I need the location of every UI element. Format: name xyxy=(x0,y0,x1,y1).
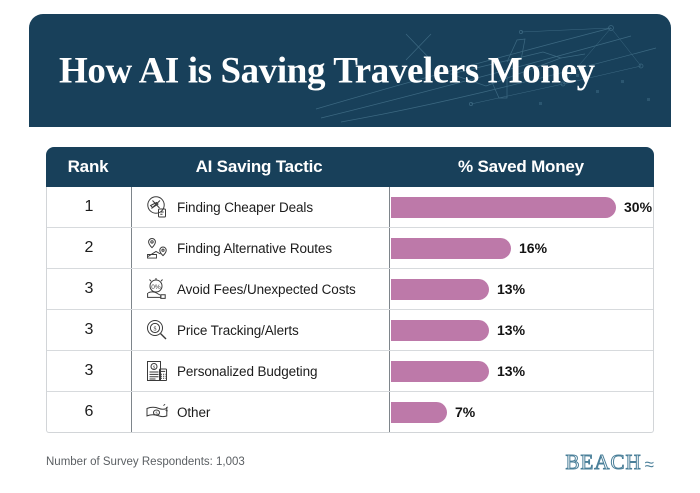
bar xyxy=(391,238,511,259)
bar-cell: 13% xyxy=(390,269,653,309)
svg-text:$: $ xyxy=(155,410,157,415)
tactic-cell: $ Price Tracking/Alerts xyxy=(132,310,390,350)
budget-document-icon: $ xyxy=(144,358,170,384)
bar-cell: 30% xyxy=(390,187,653,227)
table-row: 2 Finding Alternative Routes xyxy=(47,228,653,269)
rank-value: 1 xyxy=(47,187,132,227)
tactic-cell: Finding Cheaper Deals xyxy=(132,187,390,227)
plane-tag-icon xyxy=(144,194,170,220)
header-banner: How AI is Saving Travelers Money xyxy=(29,14,671,127)
tactic-cell: $ Personalized Budgeting xyxy=(132,351,390,391)
bar-value-label: 16% xyxy=(519,240,547,256)
table-row: 3 0% Avoid Fees/Unexpected Costs xyxy=(47,269,653,310)
tactic-label: Finding Alternative Routes xyxy=(177,241,332,256)
survey-respondents-note: Number of Survey Respondents: 1,003 xyxy=(46,456,245,468)
bar xyxy=(391,197,616,218)
rank-value: 3 xyxy=(47,310,132,350)
infographic-card: How AI is Saving Travelers Money Rank AI… xyxy=(0,0,700,493)
bar-cell: 13% xyxy=(390,351,653,391)
rank-value: 2 xyxy=(47,228,132,268)
tactic-label: Finding Cheaper Deals xyxy=(177,200,313,215)
table-row: 6 $ Other 7% xyxy=(47,392,653,432)
tactic-label: Personalized Budgeting xyxy=(177,364,317,379)
svg-text:0%: 0% xyxy=(151,284,161,291)
footer: Number of Survey Respondents: 1,003 BEAC… xyxy=(46,446,654,478)
wave-icon: ≈ xyxy=(645,456,654,473)
tactic-cell: Finding Alternative Routes xyxy=(132,228,390,268)
bar-value-label: 30% xyxy=(624,199,652,215)
magnifier-dollar-icon: $ xyxy=(144,317,170,343)
rank-value: 3 xyxy=(47,351,132,391)
brand-name: BEACH xyxy=(565,450,641,475)
svg-text:$: $ xyxy=(154,325,157,332)
tactic-label: Price Tracking/Alerts xyxy=(177,323,299,338)
page-title: How AI is Saving Travelers Money xyxy=(59,49,595,92)
column-header-tactic: AI Saving Tactic xyxy=(130,147,388,187)
bar xyxy=(391,320,489,341)
tactic-cell: 0% Avoid Fees/Unexpected Costs xyxy=(132,269,390,309)
rank-value: 6 xyxy=(47,392,132,432)
rank-value: 3 xyxy=(47,269,132,309)
tactic-label: Other xyxy=(177,405,210,420)
table-header-row: Rank AI Saving Tactic % Saved Money xyxy=(46,147,654,187)
route-pin-icon xyxy=(144,235,170,261)
tactic-label: Avoid Fees/Unexpected Costs xyxy=(177,282,356,297)
data-table: Rank AI Saving Tactic % Saved Money 1 xyxy=(46,147,654,433)
beach-logo: BEACH ≈ xyxy=(565,450,654,475)
tactic-cell: $ Other xyxy=(132,392,390,432)
bar-cell: 7% xyxy=(390,392,653,432)
table-row: 1 Finding Cheaper Deals xyxy=(47,187,653,228)
bar-cell: 13% xyxy=(390,310,653,350)
bar xyxy=(391,279,489,300)
table-body: 1 Finding Cheaper Deals xyxy=(46,187,654,433)
bar-value-label: 13% xyxy=(497,363,525,379)
zero-percent-hand-icon: 0% xyxy=(144,276,170,302)
bar-cell: 16% xyxy=(390,228,653,268)
bar-value-label: 13% xyxy=(497,322,525,338)
column-header-percent: % Saved Money xyxy=(388,147,654,187)
column-header-rank: Rank xyxy=(46,147,130,187)
bar-value-label: 7% xyxy=(455,404,475,420)
table-row: 3 $ Price Tracking/Alerts 13% xyxy=(47,310,653,351)
bar xyxy=(391,402,447,423)
table-row: 3 $ Personalized Budgeting xyxy=(47,351,653,392)
bar xyxy=(391,361,489,382)
bar-value-label: 13% xyxy=(497,281,525,297)
banknote-icon: $ xyxy=(144,399,170,425)
